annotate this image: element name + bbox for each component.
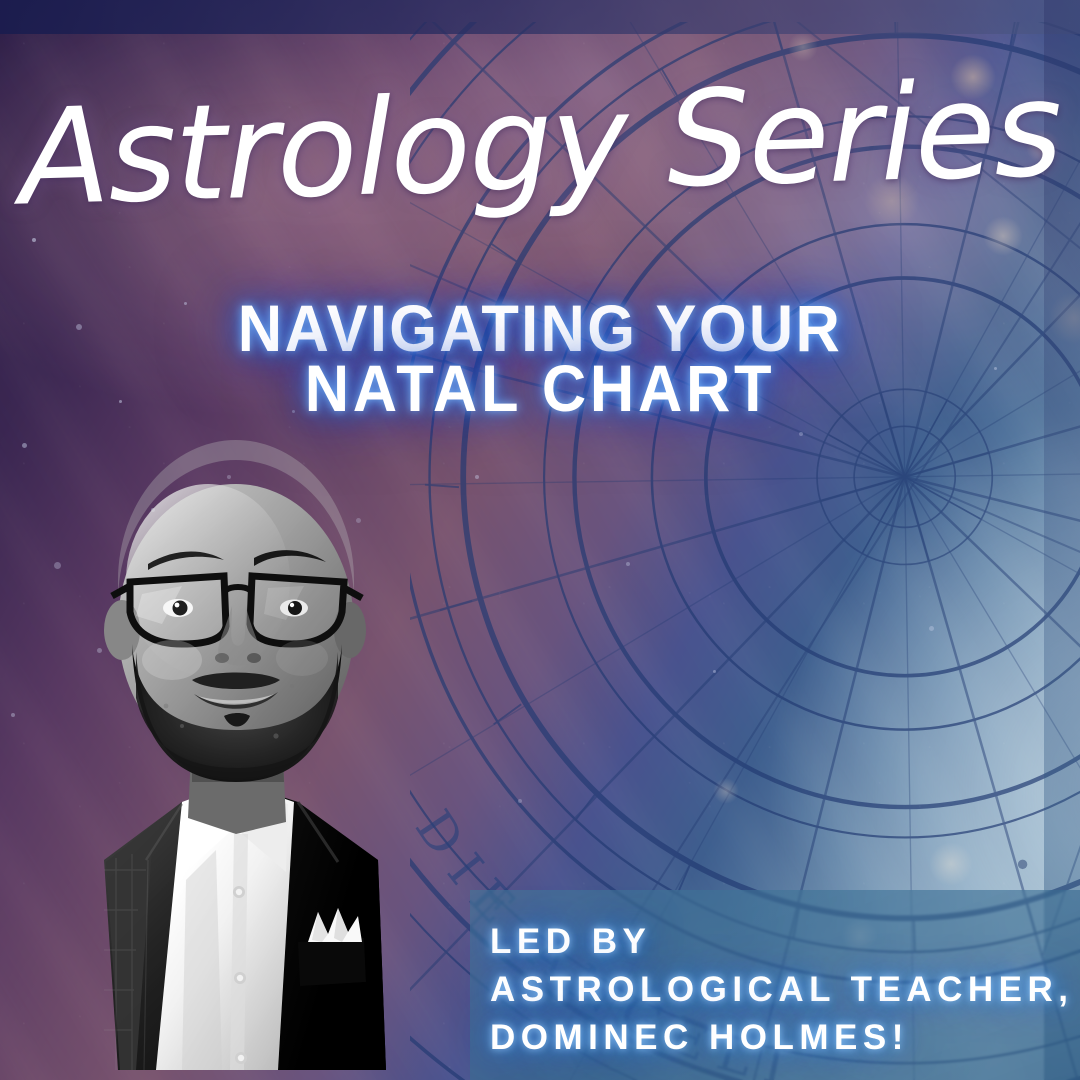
- credit-line-1: LED BY: [490, 918, 1073, 966]
- presenter-portrait: [0, 430, 486, 1080]
- head: [104, 440, 366, 782]
- credit-line-2: ASTROLOGICAL TEACHER,: [490, 966, 1073, 1014]
- presenter-portrait-illustration: [0, 430, 486, 1080]
- top-navy-band: [0, 0, 1080, 34]
- presenter-credit-text: LED BY ASTROLOGICAL TEACHER, DOMINEC HOL…: [490, 918, 1073, 1062]
- promo-poster: DIE ANGELI Pomigio Crescentia Iaspidem T…: [0, 0, 1080, 1080]
- series-script-title: Astrology Series: [0, 63, 1080, 225]
- credit-line-3: DOMINEC HOLMES!: [490, 1014, 1073, 1062]
- event-headline: NAVIGATING YOUR NATAL CHART: [38, 298, 1042, 418]
- headline-line-2: NATAL CHART: [38, 358, 1042, 418]
- headline-line-1: NAVIGATING YOUR: [38, 298, 1042, 358]
